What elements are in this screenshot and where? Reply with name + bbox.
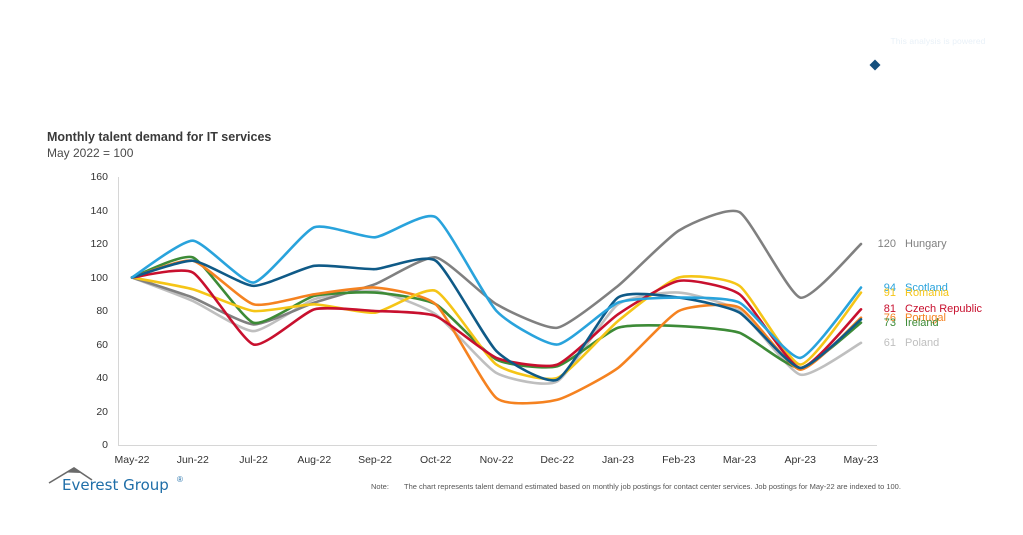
note-label: Note: [371,482,389,491]
x-tick-label: Aug-22 [279,454,349,466]
series-label-hungary: 120Hungary [870,238,947,250]
logo-word-genius: genius [892,65,979,96]
chart-subtitle: May 2022 = 100 [47,146,133,160]
series-end-value: 73 [870,317,896,329]
series-end-value: 91 [870,287,896,299]
talent-genius-logo: talent by genius ™ [854,48,1022,100]
x-tick-label: Jan-23 [583,454,653,466]
x-tick-label: Nov-22 [462,454,532,466]
everest-group-wordmark: Everest Group [62,476,169,494]
header-banner: The Tech Talent Crisis Strikes Europe: D… [0,0,1023,121]
series-label-romania: 91Romania [870,287,949,299]
chart-title: Monthly talent demand for IT services [47,130,271,144]
logo-trademark-icon: ™ [986,68,994,77]
x-tick-label: Oct-22 [401,454,471,466]
series-label-poland: 61Poland [870,337,939,349]
series-name: Romania [905,287,949,299]
x-tick-label: Jul-22 [219,454,289,466]
x-tick-label: Apr-23 [765,454,835,466]
x-tick-label: May-22 [97,454,167,466]
line-chart: 020406080100120140160 May-22Jun-22Jul-22… [0,160,1023,460]
x-tick-label: Feb-23 [644,454,714,466]
registered-mark-icon: ® [177,475,183,484]
x-tick-label: Sep-22 [340,454,410,466]
series-name: Poland [905,337,939,349]
y-tick-label: 160 [68,171,108,183]
series-end-value: 120 [870,238,896,250]
chart-page: The Tech Talent Crisis Strikes Europe: D… [0,0,1023,535]
logo-superscript-by: by [980,46,991,57]
series-line [132,278,861,384]
x-axis-line [118,445,877,446]
y-tick-label: 100 [68,272,108,284]
x-tick-label: May-23 [826,454,896,466]
y-tick-label: 80 [68,305,108,317]
diamond-icon [864,54,886,81]
series-name: Ireland [905,317,939,329]
series-label-ireland: 73Ireland [870,317,939,329]
y-tick-label: 0 [68,439,108,451]
y-axis-line [118,177,119,445]
series-line [132,216,861,358]
x-tick-label: Dec-22 [522,454,592,466]
y-tick-label: 60 [68,339,108,351]
y-tick-label: 120 [68,238,108,250]
y-tick-label: 20 [68,406,108,418]
y-tick-label: 140 [68,205,108,217]
y-tick-label: 40 [68,372,108,384]
x-tick-label: Mar-23 [705,454,775,466]
x-tick-label: Jun-22 [158,454,228,466]
header-divider [838,22,839,101]
everest-group-logo: Everest Group ® [48,466,228,500]
series-name: Hungary [905,238,947,250]
note-text: The chart represents talent demand estim… [404,482,901,491]
series-end-value: 61 [870,337,896,349]
page-title: The Tech Talent Crisis Strikes Europe: D… [46,34,538,94]
